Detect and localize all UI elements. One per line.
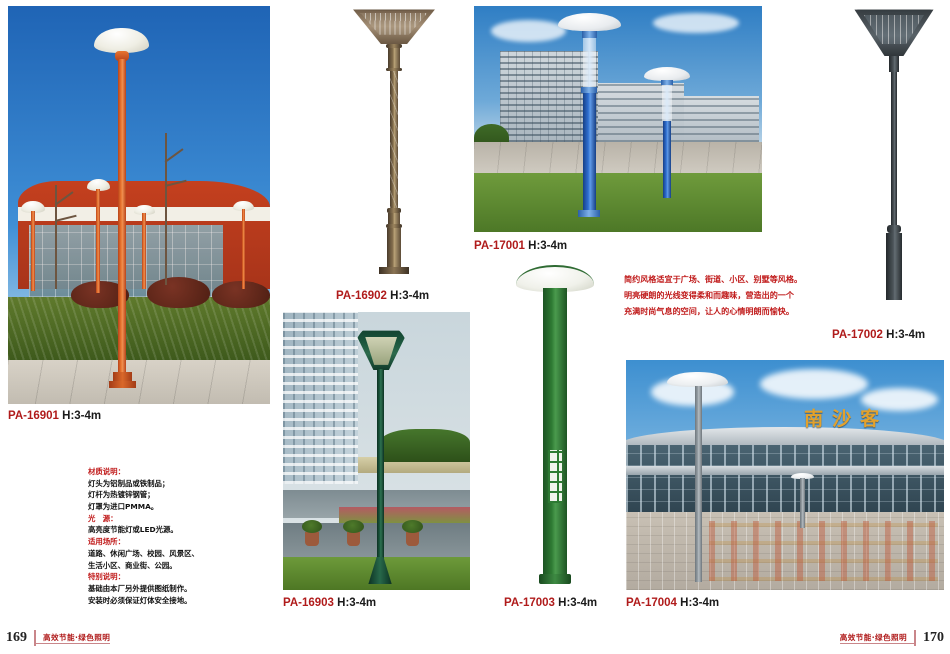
product-code-pa-16901: PA-16901 xyxy=(8,410,59,422)
spec-source-heading: 光 源： xyxy=(88,513,248,525)
product-code-pa-16903: PA-16903 xyxy=(283,597,334,609)
spec-material-line-1: 灯头为铝制品或铁制品； xyxy=(88,478,248,490)
product-height-pa-16901: H:3-4m xyxy=(62,410,101,422)
product-caption-pa-17002: PA-17002 H:3-4m xyxy=(832,329,925,341)
product-code-pa-17001: PA-17001 xyxy=(474,240,525,252)
product-photo-pa-17002 xyxy=(842,2,946,320)
spec-place-line-1: 道路、休闲广场、校园、风景区、 xyxy=(88,548,248,560)
product-caption-pa-17001: PA-17001 H:3-4m xyxy=(474,240,567,252)
catalog-page: PA-16901 H:3-4m PA-16902 H:3-4m xyxy=(0,0,950,654)
product-caption-pa-17004: PA-17004 H:3-4m xyxy=(626,597,719,609)
footer-right: 高效节能·绿色照明 170 xyxy=(840,630,944,646)
lamp-base-column xyxy=(387,228,400,267)
scene-low-building xyxy=(684,96,759,141)
product-code-pa-16902: PA-16902 xyxy=(336,290,387,302)
scene-treeline xyxy=(380,429,470,462)
lamp-collar xyxy=(388,213,399,224)
spec-place-line-2: 生活小区、商业街、公园。 xyxy=(88,560,248,572)
lamp-pole xyxy=(390,71,399,208)
footer-tagline-left: 高效节能·绿色照明 xyxy=(36,632,110,644)
product-caption-pa-16902: PA-16902 H:3-4m xyxy=(336,290,429,302)
spec-material-heading: 材质说明： xyxy=(88,466,248,478)
promo-text: 简约风格适宜于广场、街道、小区、别墅等风格。 明亮硬朗的光线变得柔和而趣味，营造… xyxy=(624,272,834,319)
lamp-neck xyxy=(889,56,898,72)
spec-note-line-2: 安装时必须保证灯体安全接地。 xyxy=(88,595,248,607)
spec-note-heading: 特别说明： xyxy=(88,571,248,583)
spec-source-line-1: 高亮度节能灯或LED光源。 xyxy=(88,524,248,536)
promo-line-1: 简约风格适宜于广场、街道、小区、别墅等风格。 xyxy=(624,272,834,288)
lamp-base-column xyxy=(886,233,903,300)
scene-walkway xyxy=(8,360,270,404)
page-number-right: 170 xyxy=(914,630,944,646)
product-code-pa-17002: PA-17002 xyxy=(832,329,883,341)
product-height-pa-17002: H:3-4m xyxy=(886,329,925,341)
scene-lawn xyxy=(474,173,762,232)
product-photo-pa-17001 xyxy=(474,6,762,232)
scene-terminal-facade xyxy=(626,445,944,514)
scene-cloud xyxy=(491,20,566,43)
promo-line-2: 明亮硬朗的光线变得柔和而趣味，营造出的一个 xyxy=(624,288,834,304)
lamp-shade xyxy=(353,2,435,44)
footer-left: 169 高效节能·绿色照明 xyxy=(6,630,110,646)
product-height-pa-17001: H:3-4m xyxy=(528,240,567,252)
product-figure-pa-17001 xyxy=(474,6,762,232)
lamp-neck xyxy=(388,48,400,68)
product-figure-pa-17004: 南 沙 客 xyxy=(626,360,944,590)
scene-planter xyxy=(305,532,318,546)
product-height-pa-16903: H:3-4m xyxy=(337,597,376,609)
footer-tagline-right: 高效节能·绿色照明 xyxy=(840,632,914,644)
scene-tree xyxy=(165,133,167,284)
product-photo-pa-16901 xyxy=(8,6,270,404)
lamp-foot-plate xyxy=(879,300,908,311)
product-height-pa-16902: H:3-4m xyxy=(390,290,429,302)
product-code-pa-17003: PA-17003 xyxy=(504,597,555,609)
sign-char-3: 客 xyxy=(860,404,879,431)
scene-pavement-pattern xyxy=(709,521,938,581)
product-height-pa-17003: H:3-4m xyxy=(558,597,597,609)
scene-planter xyxy=(347,532,360,546)
scene-tree xyxy=(55,185,57,288)
product-photo-pa-16902 xyxy=(330,2,458,282)
product-code-pa-17004: PA-17004 xyxy=(626,597,677,609)
spec-material-line-3: 灯罩为进口PMMA。 xyxy=(88,501,248,513)
scene-cloud xyxy=(653,13,739,33)
product-photo-pa-17003 xyxy=(497,262,613,592)
lamp-shade xyxy=(854,2,933,56)
product-figure-pa-17003 xyxy=(497,262,613,592)
lamp-foot-plate xyxy=(379,267,410,274)
product-caption-pa-17003: PA-17003 H:3-4m xyxy=(504,597,597,609)
spec-material-line-2: 灯杆为热镀锌钢管； xyxy=(88,489,248,501)
product-height-pa-17004: H:3-4m xyxy=(680,597,719,609)
product-figure-pa-17002 xyxy=(842,2,946,320)
sign-char-1: 南 xyxy=(804,404,823,431)
product-caption-pa-16901: PA-16901 H:3-4m xyxy=(8,410,101,422)
scene-shrub xyxy=(147,277,210,309)
terminal-sign: 南 沙 客 xyxy=(804,404,879,431)
lamp-foot-plate xyxy=(539,574,571,584)
product-figure-pa-16901 xyxy=(8,6,270,404)
scene-cloud xyxy=(760,369,868,399)
lamp-pole xyxy=(891,72,898,225)
scene-road xyxy=(474,142,762,174)
scene-planter xyxy=(406,532,419,546)
product-figure-pa-16903 xyxy=(283,312,470,590)
page-number-left: 169 xyxy=(6,630,36,646)
lamp-window-grille xyxy=(548,450,562,503)
scene-high-rise xyxy=(283,312,358,484)
specification-block: 材质说明： 灯头为铝制品或铁制品； 灯杆为热镀锌钢管； 灯罩为进口PMMA。 光… xyxy=(88,466,248,606)
product-photo-pa-17004: 南 沙 客 xyxy=(626,360,944,590)
product-caption-pa-16903: PA-16903 H:3-4m xyxy=(283,597,376,609)
lamp-collar xyxy=(887,225,902,233)
sign-char-2: 沙 xyxy=(832,404,851,431)
product-photo-pa-16903 xyxy=(283,312,470,590)
promo-line-3: 充满时尚气息的空间，让人的心情明朗而愉快。 xyxy=(624,304,834,320)
spec-place-heading: 适用场所： xyxy=(88,536,248,548)
spec-note-line-1: 基础由本厂另外提供图纸制作。 xyxy=(88,583,248,595)
product-figure-pa-16902 xyxy=(330,2,458,282)
scene-terminal-canopy xyxy=(626,466,944,475)
lamp-column xyxy=(543,288,566,575)
